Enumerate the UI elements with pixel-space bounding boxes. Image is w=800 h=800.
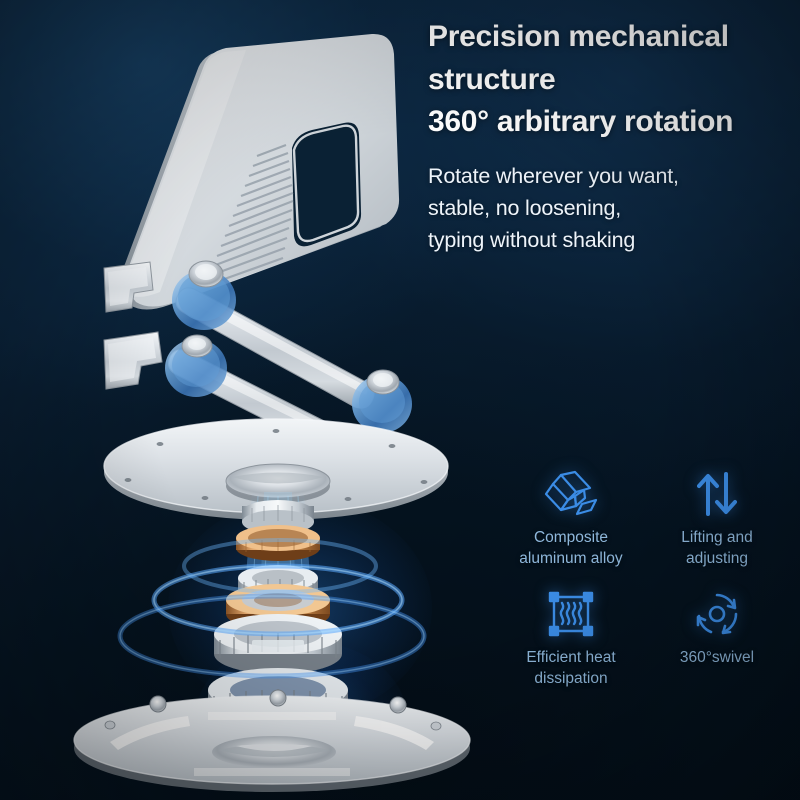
feature-label-composite-aluminum-alloy: Composite aluminum alloy xyxy=(519,527,622,570)
feature-label-360-swivel: 360°swivel xyxy=(680,647,754,668)
feature-efficient-heat-dissipation: Efficient heat dissipation xyxy=(498,588,644,690)
up-down-arrows-icon xyxy=(681,468,753,520)
base-plate xyxy=(74,690,470,792)
headline-line-3: 360° arbitrary rotation xyxy=(428,101,792,144)
bearing-ring-5-large-gear xyxy=(214,614,342,674)
headline-line-2: structure xyxy=(428,59,792,102)
rotation-arrows-icon xyxy=(681,588,753,640)
back-support-plate xyxy=(116,34,399,310)
subheadline-line-3: typing without shaking xyxy=(428,224,792,256)
feature-grid: Composite aluminum alloy Lifting and adj… xyxy=(498,468,790,690)
subheadline-line-2: stable, no loosening, xyxy=(428,192,792,224)
subheadline: Rotate wherever you want, stable, no loo… xyxy=(428,160,792,257)
feature-label-lifting-and-adjusting: Lifting and adjusting xyxy=(681,527,753,570)
marketing-copy-block: Precision mechanical structure 360° arbi… xyxy=(428,16,792,257)
feature-lifting-and-adjusting: Lifting and adjusting xyxy=(644,468,790,570)
feature-composite-aluminum-alloy: Composite aluminum alloy xyxy=(498,468,644,570)
feature-360-swivel: 360°swivel xyxy=(644,588,790,690)
handle-cutout xyxy=(292,123,361,247)
feature-label-efficient-heat-dissipation: Efficient heat dissipation xyxy=(526,647,615,690)
subheadline-line-1: Rotate wherever you want, xyxy=(428,160,792,192)
headline-line-1: Precision mechanical xyxy=(428,16,792,59)
aluminum-ingots-icon xyxy=(535,468,607,520)
headline: Precision mechanical structure 360° arbi… xyxy=(428,16,792,144)
middle-hinge-joint xyxy=(165,335,227,397)
product-marketing-poster: Precision mechanical structure 360° arbi… xyxy=(0,0,800,800)
heat-dissipation-icon xyxy=(535,588,607,640)
